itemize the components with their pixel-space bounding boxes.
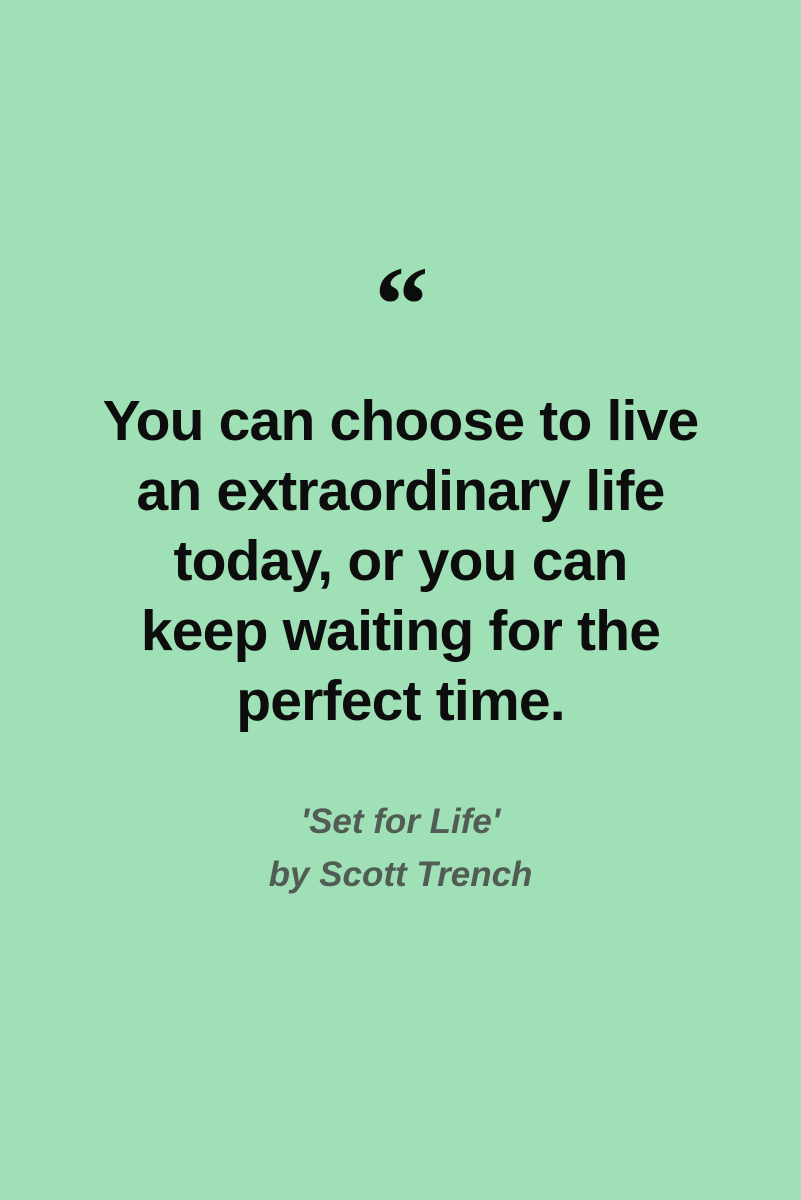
quote-line: You can choose to live [60,386,741,456]
quote-text: You can choose to live an extraordinary … [0,386,801,736]
quote-line: today, or you can [60,526,741,596]
source-author: by Scott Trench [60,848,741,901]
quote-line: perfect time. [60,666,741,736]
quote-line: keep waiting for the [60,596,741,666]
attribution: 'Set for Life' by Scott Trench [0,795,801,901]
quote-card: “ You can choose to live an extraordinar… [0,0,801,1200]
source-title: 'Set for Life' [60,795,741,848]
quote-line: an extraordinary life [60,456,741,526]
open-quote-icon: “ [0,252,801,360]
